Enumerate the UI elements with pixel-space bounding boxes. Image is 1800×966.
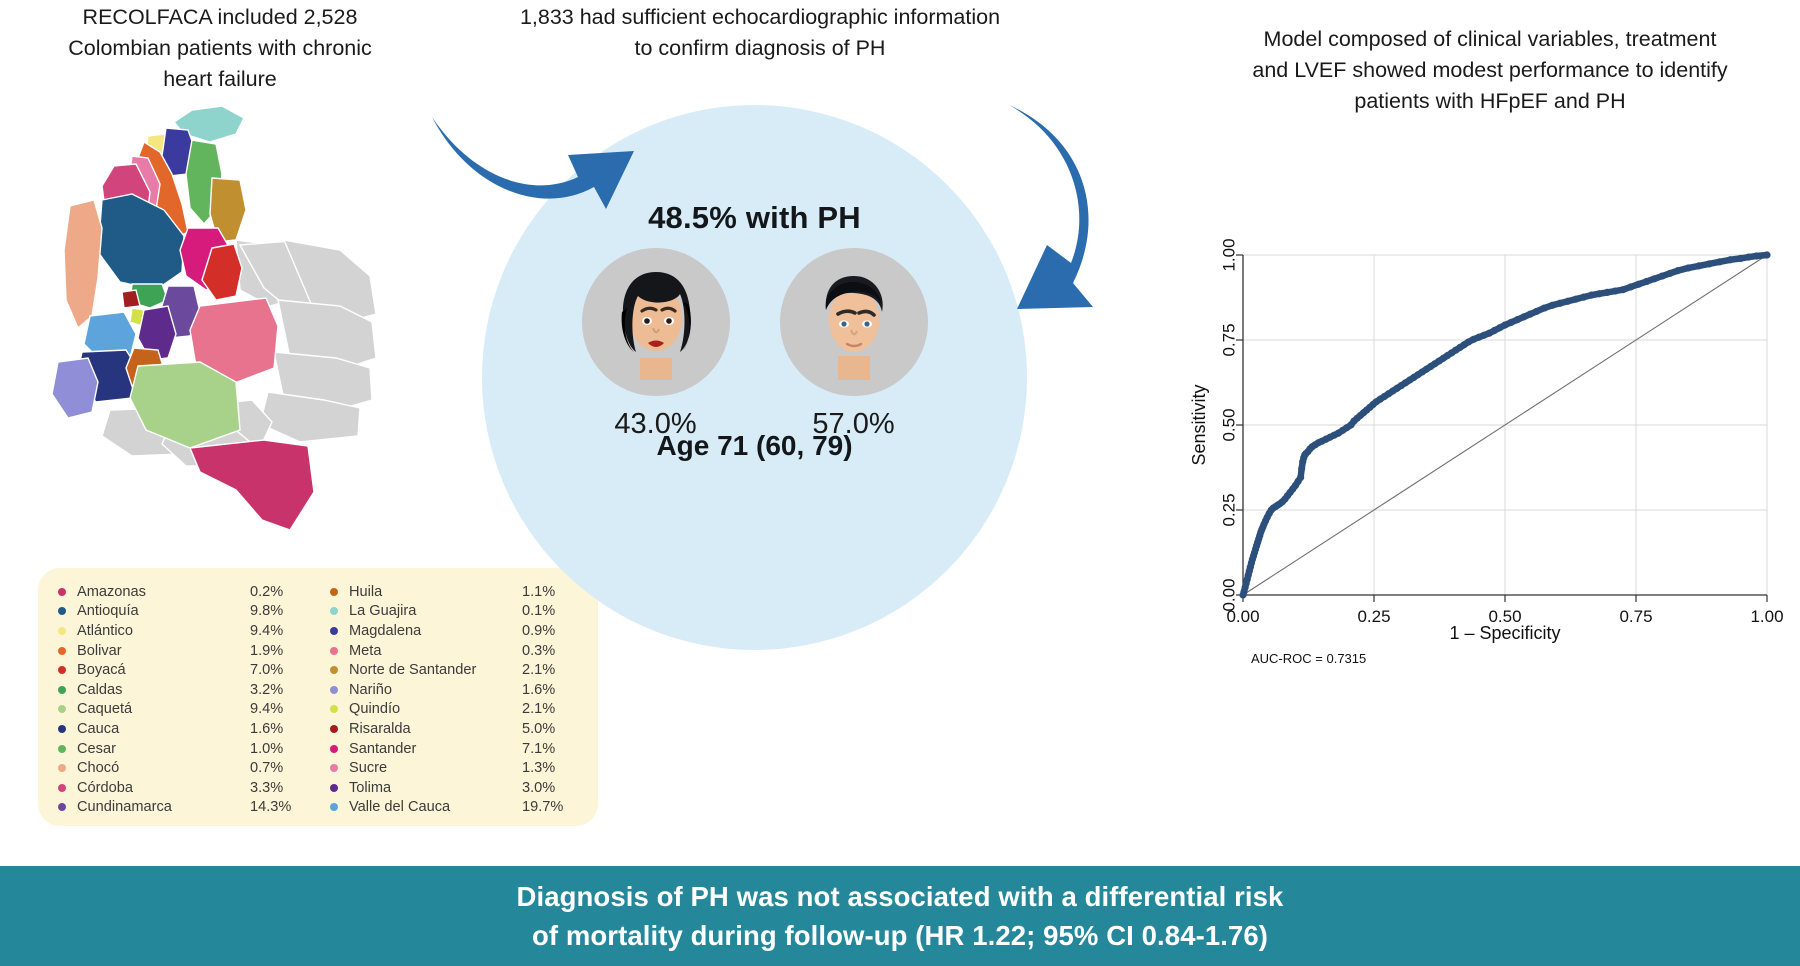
list-item: Meta0.3% [330, 641, 580, 661]
list-item: La Guajira0.1% [330, 602, 580, 622]
list-item: Chocó0.7% [58, 758, 308, 778]
roc-point [1298, 465, 1305, 472]
roc-y-axis-label: Sensitivity [1189, 384, 1209, 465]
legend-value: 1.1% [522, 584, 580, 600]
legend-dot-icon [58, 607, 66, 615]
list-item: Huila1.1% [330, 582, 580, 602]
list-item: Sucre1.3% [330, 758, 580, 778]
legend-dot-icon [58, 705, 66, 713]
roc-point [1533, 308, 1540, 315]
legend-dot-icon [58, 745, 66, 753]
legend-label: Cundinamarca [77, 799, 250, 815]
list-item: Quindío2.1% [330, 700, 580, 720]
curved-arrow-right-icon [428, 105, 658, 225]
conclusion-banner: Diagnosis of PH was not associated with … [0, 866, 1800, 966]
legend-label: La Guajira [349, 603, 522, 619]
roc-point [1643, 278, 1650, 285]
legend-dot-icon [330, 686, 338, 694]
roc-y-tick: 0.50 [1219, 408, 1238, 441]
legend-dot-icon [58, 764, 66, 772]
legend-label: Cauca [77, 721, 250, 737]
legend-column-2: Huila1.1% La Guajira0.1% Magdalena0.9% M… [330, 582, 580, 817]
roc-point [1666, 270, 1673, 277]
legend-value: 1.0% [250, 741, 308, 757]
roc-y-tick: 1.00 [1219, 238, 1238, 271]
roc-point [1501, 321, 1508, 328]
legend-value: 9.4% [250, 623, 308, 639]
legend-value: 1.6% [522, 682, 580, 698]
list-item: Norte de Santander2.1% [330, 660, 580, 680]
legend-value: 0.9% [522, 623, 580, 639]
legend-label: Amazonas [77, 584, 250, 600]
legend-label: Bolivar [77, 643, 250, 659]
roc-point [1674, 267, 1681, 274]
legend-dot-icon [58, 686, 66, 694]
legend-value: 9.8% [250, 603, 308, 619]
legend-label: Santander [349, 741, 522, 757]
auc-annotation: AUC-ROC = 0.7315 [1251, 651, 1366, 666]
male-avatar [780, 248, 928, 396]
legend-dot-icon [58, 588, 66, 596]
legend-dot-icon [330, 803, 338, 811]
list-item: Cundinamarca14.3% [58, 798, 308, 818]
list-item: Santander7.1% [330, 739, 580, 759]
legend-value: 1.3% [522, 760, 580, 776]
list-item: Caldas3.2% [58, 680, 308, 700]
caption-model: Model composed of clinical variables, tr… [1220, 24, 1760, 118]
legend-label: Córdoba [77, 780, 250, 796]
median-age: Age 71 (60, 79) [482, 430, 1027, 462]
legend-value: 2.1% [522, 662, 580, 678]
roc-point [1659, 272, 1666, 279]
roc-y-tick: 0.75 [1219, 323, 1238, 356]
legend-value: 0.1% [522, 603, 580, 619]
roc-point [1549, 302, 1556, 309]
roc-point [1627, 283, 1634, 290]
roc-x-tick: 1.00 [1750, 607, 1783, 626]
roc-point [1619, 286, 1626, 293]
roc-point [1580, 294, 1587, 301]
legend-value: 7.0% [250, 662, 308, 678]
list-item: Antioquía9.8% [58, 602, 308, 622]
legend-label: Norte de Santander [349, 662, 522, 678]
legend-label: Cesar [77, 741, 250, 757]
roc-point [1685, 264, 1692, 271]
legend-value: 2.1% [522, 701, 580, 717]
list-item: Cauca1.6% [58, 719, 308, 739]
legend-dot-icon [58, 725, 66, 733]
legend-label: Huila [349, 584, 522, 600]
roc-point [1763, 251, 1770, 258]
roc-point [1572, 296, 1579, 303]
roc-x-tick: 0.75 [1619, 607, 1652, 626]
legend-dot-icon [330, 784, 338, 792]
roc-point [1604, 289, 1611, 296]
legend-value: 1.6% [250, 721, 308, 737]
list-item: Valle del Cauca19.7% [330, 798, 580, 818]
roc-point [1588, 292, 1595, 299]
legend-label: Valle del Cauca [349, 799, 522, 815]
roc-point [1556, 300, 1563, 307]
roc-point [1596, 290, 1603, 297]
legend-label: Caldas [77, 682, 250, 698]
roc-point [1514, 316, 1521, 323]
roc-point [1737, 255, 1744, 262]
legend-dot-icon [58, 666, 66, 674]
legend-value: 1.9% [250, 643, 308, 659]
roc-x-axis-label: 1 – Specificity [1449, 623, 1560, 643]
list-item: Córdoba3.3% [58, 778, 308, 798]
legend-value: 3.0% [522, 780, 580, 796]
legend-label: Caquetá [77, 701, 250, 717]
legend-value: 0.3% [522, 643, 580, 659]
roc-point [1716, 258, 1723, 265]
roc-point [1727, 256, 1734, 263]
legend-dot-icon [58, 627, 66, 635]
list-item: Caquetá9.4% [58, 700, 308, 720]
legend-value: 0.2% [250, 584, 308, 600]
roc-curve-chart: 0.000.250.500.751.00 0.000.250.500.751.0… [1185, 235, 1785, 675]
legend-value: 9.4% [250, 701, 308, 717]
list-item: Risaralda5.0% [330, 719, 580, 739]
caption-echo: 1,833 had sufficient echocardiographic i… [500, 2, 1020, 64]
roc-point [1651, 275, 1658, 282]
roc-point [1508, 319, 1515, 326]
graphical-abstract: RECOLFACA included 2,528 Colombian patie… [0, 0, 1800, 966]
roc-point [1520, 313, 1527, 320]
list-item: Cesar1.0% [58, 739, 308, 759]
list-item: Boyacá7.0% [58, 660, 308, 680]
roc-y-tick: 0.25 [1219, 493, 1238, 526]
roc-point [1297, 474, 1304, 481]
legend-value: 19.7% [522, 799, 580, 815]
roc-point [1695, 262, 1702, 269]
male-cell: 57.0% [769, 248, 939, 441]
roc-y-tick: 0.00 [1219, 578, 1238, 611]
legend-dot-icon [330, 588, 338, 596]
legend-value: 5.0% [522, 721, 580, 737]
list-item: Atlántico9.4% [58, 621, 308, 641]
legend-label: Atlántico [77, 623, 250, 639]
roc-point [1706, 260, 1713, 267]
legend-dot-icon [330, 764, 338, 772]
roc-point [1745, 253, 1752, 260]
legend-label: Boyacá [77, 662, 250, 678]
list-item: Tolima3.0% [330, 778, 580, 798]
legend-dot-icon [330, 666, 338, 674]
department-legend: Amazonas0.2% Antioquía9.8% Atlántico9.4%… [38, 568, 598, 826]
legend-dot-icon [58, 803, 66, 811]
roc-point [1611, 287, 1618, 294]
colombia-map [40, 100, 385, 570]
legend-dot-icon [330, 745, 338, 753]
legend-dot-icon [330, 705, 338, 713]
list-item: Amazonas0.2% [58, 582, 308, 602]
sex-distribution: 43.0% 57. [482, 248, 1027, 441]
curved-arrow-down-icon [985, 95, 1175, 325]
roc-point [1753, 252, 1760, 259]
legend-label: Tolima [349, 780, 522, 796]
legend-label: Sucre [349, 760, 522, 776]
roc-point [1527, 311, 1534, 318]
legend-value: 14.3% [250, 799, 308, 815]
female-cell: 43.0% [571, 248, 741, 441]
roc-point [1635, 281, 1642, 288]
legend-dot-icon [330, 627, 338, 635]
roc-x-tick: 0.25 [1357, 607, 1390, 626]
roc-point [1541, 304, 1548, 311]
roc-point [1564, 298, 1571, 305]
legend-value: 3.3% [250, 780, 308, 796]
female-avatar [582, 248, 730, 396]
caption-cohort: RECOLFACA included 2,528 Colombian patie… [55, 2, 385, 96]
legend-dot-icon [330, 647, 338, 655]
legend-label: Meta [349, 643, 522, 659]
conclusion-text: Diagnosis of PH was not associated with … [517, 877, 1284, 955]
legend-label: Magdalena [349, 623, 522, 639]
legend-label: Risaralda [349, 721, 522, 737]
legend-label: Chocó [77, 760, 250, 776]
list-item: Nariño1.6% [330, 680, 580, 700]
legend-value: 0.7% [250, 760, 308, 776]
legend-label: Antioquía [77, 603, 250, 619]
list-item: Bolivar1.9% [58, 641, 308, 661]
legend-value: 7.1% [522, 741, 580, 757]
legend-dot-icon [330, 607, 338, 615]
legend-dot-icon [58, 784, 66, 792]
legend-label: Nariño [349, 682, 522, 698]
legend-value: 3.2% [250, 682, 308, 698]
legend-dot-icon [58, 647, 66, 655]
legend-column-1: Amazonas0.2% Antioquía9.8% Atlántico9.4%… [58, 582, 308, 817]
legend-label: Quindío [349, 701, 522, 717]
legend-dot-icon [330, 725, 338, 733]
list-item: Magdalena0.9% [330, 621, 580, 641]
